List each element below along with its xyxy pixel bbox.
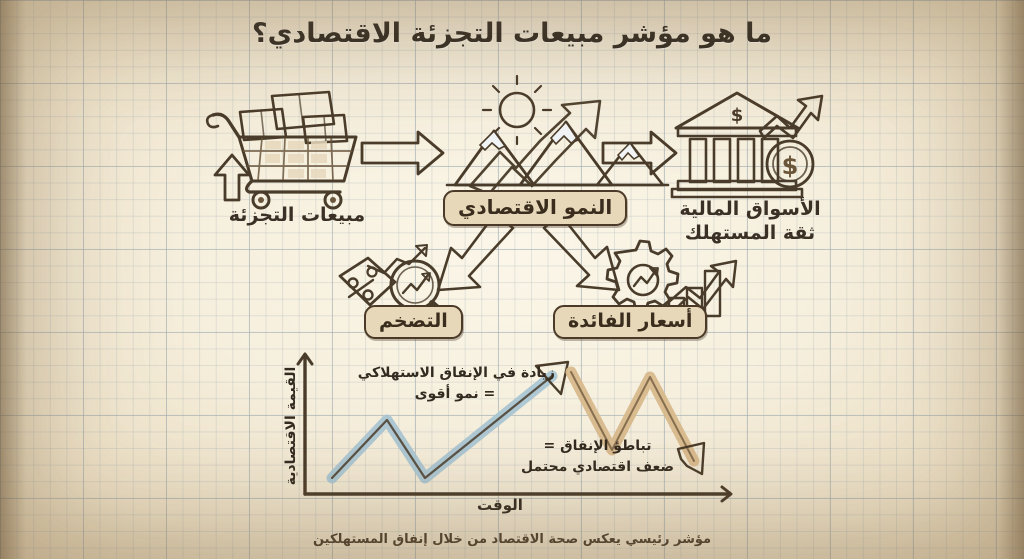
bank-icon: $ $ <box>672 93 822 197</box>
up-arrow-icon <box>215 155 249 200</box>
node-label-financial-markets: الأسواق المالية <box>655 198 845 220</box>
svg-text:$: $ <box>782 152 799 180</box>
annotation-growth-line1: زيادة في الإنفاق الاستهلاكي <box>355 364 555 383</box>
annotation-slowdown-line1: تباطؤ الإنفاق = <box>510 437 685 456</box>
boxes-icon <box>240 92 347 143</box>
dollar-sign-pediment: $ <box>731 105 744 126</box>
node-label-economic-growth: النمو الاقتصادي <box>443 190 627 226</box>
chart-y-axis-label: القيمة الاقتصادية <box>283 351 299 501</box>
footer-caption: مؤشر رئيسي يعكس صحة الاقتصاد من خلال إنف… <box>0 532 1024 547</box>
gear-icon <box>607 241 678 312</box>
branch-label-inflation: التضخم <box>364 305 463 339</box>
branch-label-interest-rates: أسعار الفائدة <box>553 305 707 339</box>
right-arrow-icon-1 <box>362 132 443 174</box>
annotation-slowdown-line2: ضعف اقتصادي محتمل <box>500 458 695 477</box>
chart-x-axis-label: الوقت <box>445 496 555 514</box>
shopping-cart-icon <box>207 92 356 208</box>
node-label-retail-sales: مبيعات التجزئة <box>212 204 382 226</box>
node-label-consumer-confidence: ثقة المستهلك <box>655 222 845 244</box>
mountain-growth-icon <box>447 76 668 194</box>
annotation-growth-line2: = نمو أقوى <box>355 385 555 404</box>
dollar-coin-icon: $ <box>767 141 813 187</box>
